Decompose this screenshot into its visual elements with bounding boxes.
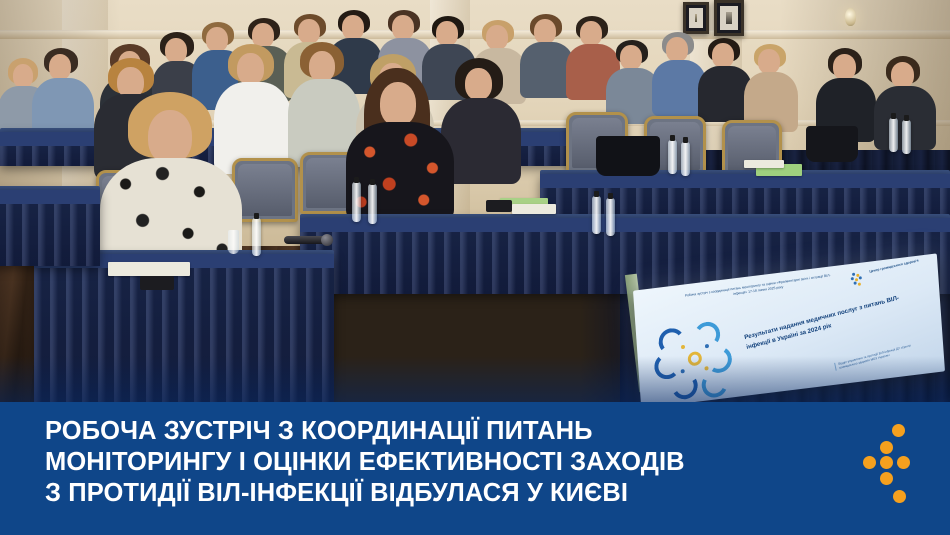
paper-handout [108, 262, 190, 276]
logo-dot [880, 441, 893, 454]
water-bottle [668, 140, 677, 174]
water-bottle [902, 120, 911, 154]
paper-handout [512, 204, 556, 214]
slide-header-text: Робоча зустріч з координації питань моні… [683, 273, 833, 304]
wall-sconce [845, 8, 856, 26]
framed-picture [714, 0, 744, 36]
water-bottle [681, 142, 690, 176]
water-bottle [352, 182, 361, 222]
smartphone [486, 200, 512, 212]
water-bottle [592, 196, 601, 234]
logo-dot [880, 456, 893, 469]
headline-line-2: моніторингу і оцінки ефективності заході… [45, 447, 815, 478]
logo-dot [892, 424, 905, 437]
slide-title-text: Результати надання медичних послуг з пит… [744, 288, 923, 353]
photo-bottom-fade [0, 356, 950, 402]
organization-logo-text: Центр громадського здоров'я [869, 258, 919, 274]
logo-dot [880, 472, 893, 485]
smartphone [140, 276, 174, 290]
paper-handout [744, 160, 784, 168]
conference-photo: Робоча зустріч з координації питань моні… [0, 0, 950, 402]
water-bottle [252, 218, 261, 256]
headline-line-3: з протидії ВІЛ-інфекції відбулася у Києв… [45, 478, 815, 509]
microphone [284, 236, 328, 244]
skirted-table [0, 190, 100, 266]
news-card: Робоча зустріч з координації питань моні… [0, 0, 950, 535]
water-bottle [606, 198, 615, 236]
logo-dot [893, 490, 906, 503]
water-bottle [889, 118, 898, 152]
logo-dot [897, 456, 910, 469]
headline-line-1: Робоча зустріч з координації питань [45, 416, 815, 447]
handbag [806, 126, 858, 162]
headline-banner: Робоча зустріч з координації питань моні… [0, 402, 950, 535]
handbag [596, 136, 660, 176]
orange-dot-diamond-logo [862, 424, 932, 508]
logo-dot [863, 456, 876, 469]
headline: Робоча зустріч з координації питань моні… [45, 416, 815, 509]
water-bottle [368, 184, 377, 224]
drinking-glass [228, 230, 239, 254]
framed-picture [683, 2, 709, 34]
laptop [400, 176, 484, 220]
